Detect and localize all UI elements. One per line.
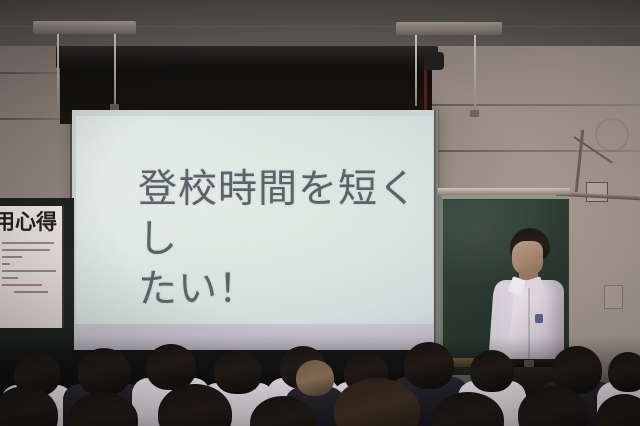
poster-text-line (2, 270, 56, 272)
audience-head (146, 344, 196, 390)
audience-head (608, 352, 640, 392)
ceiling-mount-plate (33, 21, 136, 34)
slide-headline: 登校時間を短くし たい！ (138, 165, 428, 315)
ceiling-mount-plate (396, 22, 502, 35)
audience-head (78, 348, 130, 396)
poster-title: 用心得 (0, 212, 57, 234)
wall-panel-line (432, 104, 640, 106)
suspension-rod (57, 34, 59, 106)
screen-right-edge (434, 110, 439, 350)
suspension-rod (114, 34, 116, 106)
presenter-ear (535, 253, 543, 264)
suspension-rod (474, 35, 476, 112)
poster-text-line (2, 249, 50, 251)
poster-text-line (2, 277, 18, 279)
suspension-rod (415, 35, 417, 106)
audience-head (214, 350, 262, 394)
audience-head (296, 360, 334, 396)
wall-bracket-box (586, 182, 608, 202)
rod-cap (470, 110, 479, 117)
poster-text-line (2, 256, 22, 258)
audience-head (404, 342, 454, 389)
poster-text-line (14, 291, 48, 293)
wall-clock (595, 118, 629, 152)
classroom-photo: 登校時間を短くし たい！ 用心得 (0, 0, 640, 426)
poster-body-text (2, 242, 60, 298)
presenter-badge (535, 314, 543, 323)
chalkboard-top-rail (438, 188, 570, 195)
poster-text-line (2, 263, 10, 265)
wall-poster: 用心得 (0, 206, 64, 328)
wall-outlet-plate (604, 285, 623, 309)
housing-accent-line (424, 66, 427, 112)
audience-head (470, 350, 514, 392)
poster-text-line (2, 242, 54, 244)
poster-text-line-highlight (2, 284, 42, 286)
roller-end-cap (424, 52, 444, 70)
